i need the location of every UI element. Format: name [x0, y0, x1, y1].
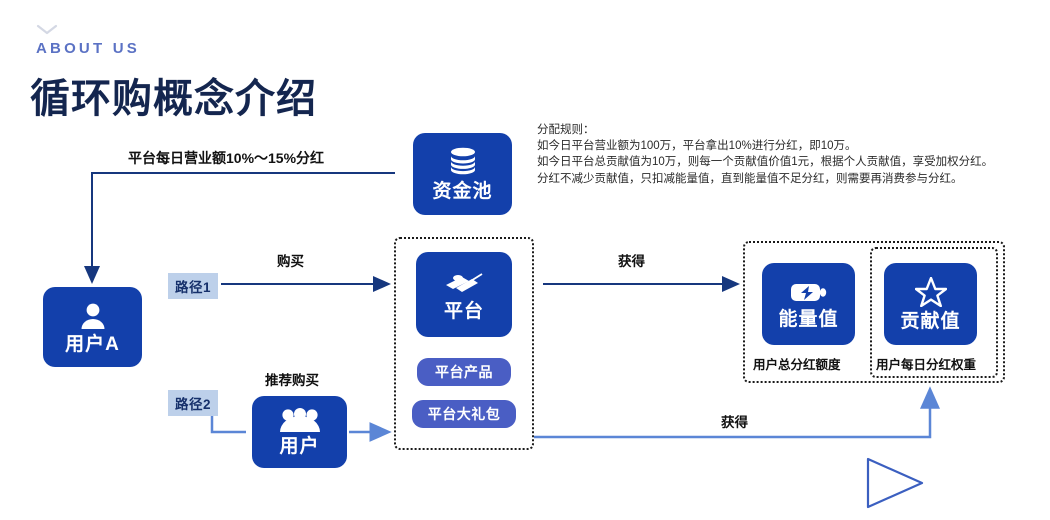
- diagram-canvas: ABOUT US 循环购概念介绍 分配规则： 如今日平台营业额为100万，平台拿…: [0, 0, 1050, 500]
- chevron-down-icon: [36, 24, 58, 36]
- rules-heading: 分配规则：: [537, 122, 1042, 138]
- platform-item-gift-pack[interactable]: 平台大礼包: [412, 400, 516, 428]
- path-badge-2: 路径2: [168, 390, 218, 416]
- user-group-icon: [279, 408, 321, 434]
- edge-label-dividend: 平台每日营业额10%～15%分红: [128, 148, 324, 168]
- node-label: 能量值: [778, 310, 838, 329]
- star-icon: [915, 277, 947, 307]
- rules-line: 分红不减少贡献值，只扣减能量值，直到能量值不足分红，则需要再消费参与分红。: [537, 171, 1042, 187]
- platform-building-icon: [442, 268, 486, 298]
- energy-caption: 用户总分红额度: [753, 354, 841, 373]
- node-label: 资金池: [432, 182, 492, 201]
- battery-icon: [789, 279, 829, 305]
- node-label: 平台: [444, 302, 484, 321]
- single-user-icon: [78, 301, 108, 331]
- page-eyebrow: ABOUT US: [36, 40, 140, 57]
- edge-label-get-bottom: 获得: [721, 411, 748, 431]
- rules-line: 如今日平台总贡献值为10万，则每一个贡献值价值1元，根据个人贡献值，享受加权分红…: [537, 154, 1042, 170]
- rules-line: 如今日平台营业额为100万，平台拿出10%进行分红，即10万。: [537, 138, 1042, 154]
- node-contribution-value[interactable]: 贡献值: [884, 263, 977, 345]
- node-user-a[interactable]: 用户A: [43, 287, 142, 367]
- node-fund-pool[interactable]: 资金池: [413, 133, 512, 215]
- node-label: 贡献值: [900, 312, 960, 331]
- edge-label-get-top: 获得: [618, 250, 645, 270]
- node-user-group[interactable]: 用户: [252, 396, 347, 468]
- platform-item-product[interactable]: 平台产品: [417, 358, 511, 386]
- path-badge-1: 路径1: [168, 273, 218, 299]
- page-title: 循环购概念介绍: [30, 66, 317, 124]
- node-energy-value[interactable]: 能量值: [762, 263, 855, 345]
- edge-label-buy: 购买: [277, 250, 304, 270]
- coin-stack-icon: [446, 147, 480, 177]
- edge-pool-to-usera: [92, 173, 395, 281]
- node-label: 用户: [279, 437, 319, 456]
- distribution-rules: 分配规则： 如今日平台营业额为100万，平台拿出10%进行分红，即10万。 如今…: [537, 122, 1042, 187]
- triangle-outline-icon: [860, 455, 990, 515]
- node-platform[interactable]: 平台: [416, 252, 512, 337]
- contribution-caption: 用户每日分红权重: [876, 354, 976, 373]
- edge-label-recommend: 推荐购买: [265, 369, 319, 389]
- node-label: 用户A: [65, 335, 120, 354]
